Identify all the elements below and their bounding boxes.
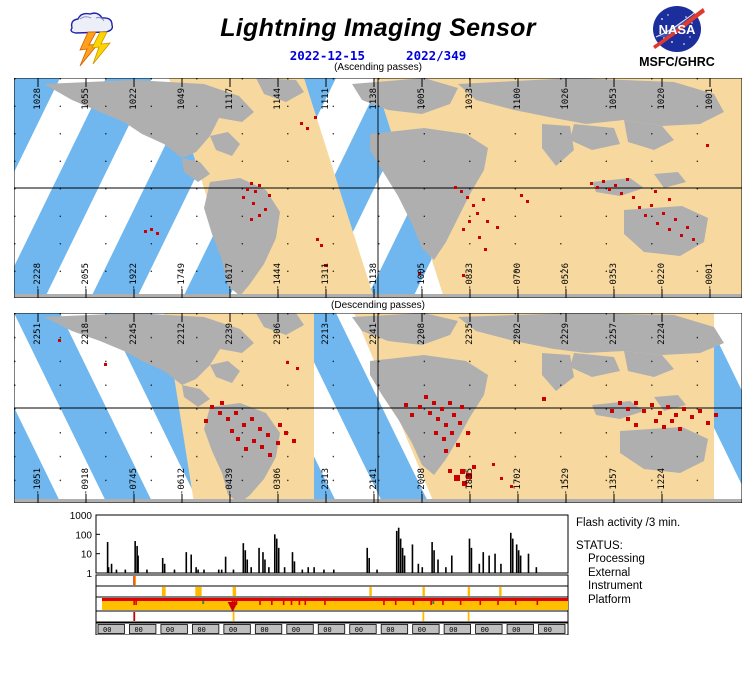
instrument-green-marker — [432, 601, 434, 604]
flash-bar — [307, 567, 309, 573]
flash-bar — [292, 552, 294, 573]
flash-bar — [398, 528, 400, 573]
external-spike — [468, 587, 470, 596]
external-spike — [163, 587, 165, 596]
flash-bar — [116, 570, 118, 573]
flash-bar — [244, 550, 246, 573]
flash-bar — [494, 554, 496, 573]
ascending-orbit-label: 1028 — [34, 88, 43, 110]
page-header: Lightning Imaging Sensor 2022-12-15 2022… — [0, 0, 756, 78]
platform-tick — [133, 612, 135, 621]
timeline-cell-label: 00 — [418, 626, 426, 634]
ascending-orbit-label: 1001 — [706, 88, 715, 110]
chart-legend: Flash activity /3 min. STATUS: Processin… — [576, 517, 680, 607]
y-tick-label: 1 — [86, 569, 92, 580]
instrument-marker — [460, 601, 462, 605]
ascending-orbit-label: 1049 — [178, 88, 187, 110]
flash-bar — [412, 544, 414, 573]
flash-bar — [218, 570, 220, 573]
timeline-cell-label: 00 — [166, 626, 174, 634]
flash-bar — [518, 550, 520, 573]
flash-bar — [418, 564, 420, 573]
ascending-orbit-label: -2228 — [34, 263, 43, 290]
flash-bar — [278, 548, 280, 573]
flash-bar — [190, 555, 192, 573]
flash-bar — [125, 570, 127, 573]
ascending-orbit-label: 1144 — [274, 88, 283, 110]
flash-bar — [479, 564, 481, 573]
flash-bar — [368, 558, 370, 573]
ascending-orbit-label: 1022 — [130, 88, 139, 110]
flash-bar — [333, 570, 335, 573]
status-row-platform — [96, 611, 568, 622]
ascending-orbit-label: 1055 — [82, 88, 91, 110]
instrument-marker — [430, 601, 432, 605]
ascending-orbit-label: 1138 — [370, 88, 379, 110]
nasa-meatball-logo: NASA — [646, 4, 708, 54]
instrument-marker — [133, 601, 135, 605]
instrument-marker — [291, 601, 293, 605]
ascending-orbit-label: -2055 — [82, 263, 91, 290]
flash-bar — [433, 550, 435, 573]
instrument-marker — [395, 601, 397, 605]
date-iso: 2022-12-15 — [290, 48, 365, 63]
flash-bar — [516, 544, 518, 573]
flash-bar — [400, 539, 402, 573]
status-item-platform: Platform — [576, 594, 680, 608]
ascending-orbit-label: 1100 — [514, 88, 523, 110]
ascending-orbit-label: -1005 — [418, 263, 427, 290]
flash-bar — [323, 570, 325, 573]
processing-tick — [134, 576, 136, 585]
ascending-orbit-label: 1117 — [226, 88, 235, 110]
flash-plot-frame — [96, 515, 568, 573]
ascending-orbit-label: -0526 — [562, 263, 571, 290]
flash-bar — [185, 552, 187, 573]
external-spike — [234, 587, 236, 596]
date-doy: 2022/349 — [406, 48, 466, 63]
flash-bar — [243, 543, 245, 573]
descending-orbit-label: -0918 — [82, 468, 91, 495]
instrument-red-line — [102, 598, 568, 601]
flash-bar — [197, 570, 199, 573]
descending-orbit-label: -1835 — [466, 468, 475, 495]
instrument-marker — [515, 601, 517, 605]
platform-tick — [468, 612, 470, 621]
ascending-orbit-label: -1922 — [130, 263, 139, 290]
descending-subtitle: (Descending passes) — [0, 300, 756, 311]
descending-orbit-label: 2241 — [370, 323, 379, 345]
flash-bar — [482, 552, 484, 573]
flash-bar — [134, 541, 136, 573]
flash-bar — [437, 559, 439, 573]
timeline-cell-label: 00 — [481, 626, 489, 634]
ascending-orbit-label: -0001 — [706, 263, 715, 290]
descending-passes-map: 2251221822452212223923062213224122082235… — [14, 313, 742, 503]
nasa-wordmark-text: NASA — [659, 22, 696, 37]
flash-bar — [445, 567, 447, 573]
flash-bar — [203, 570, 205, 573]
flash-bar — [528, 554, 530, 573]
ascending-orbit-label: 1033 — [466, 88, 475, 110]
flash-bar — [284, 567, 286, 573]
timeline-cell-label: 00 — [512, 626, 520, 634]
ascending-orbit-label: -0700 — [514, 263, 523, 290]
instrument-marker — [304, 601, 306, 605]
flash-bar — [488, 556, 490, 573]
external-spike — [199, 587, 201, 596]
timeline-cell-label: 00 — [229, 626, 237, 634]
timeline-cell-label: 00 — [292, 626, 300, 634]
flash-bar — [262, 552, 264, 573]
descending-orbit-label: 2245 — [130, 323, 139, 345]
flash-bar — [233, 570, 235, 573]
descending-orbit-label: 2212 — [178, 323, 187, 345]
ascending-orbit-label: -1311 — [322, 263, 331, 290]
descending-orbit-label: 2257 — [610, 323, 619, 345]
flash-bar — [404, 556, 406, 573]
ascending-orbit-label: -0220 — [658, 263, 667, 290]
status-item-external: External — [576, 567, 680, 581]
descending-orbit-label: 2224 — [658, 323, 667, 345]
descending-orbit-label: 2251 — [34, 323, 43, 345]
instrument-marker — [324, 601, 326, 605]
external-spike — [499, 587, 501, 596]
flash-bar — [431, 542, 433, 573]
flash-bar — [510, 533, 512, 573]
flash-bar — [536, 567, 538, 573]
descending-orbit-label: -2313 — [322, 468, 331, 495]
instrument-marker — [299, 601, 301, 605]
flash-bar — [451, 556, 453, 573]
flash-bar — [221, 570, 223, 573]
ascending-orbit-label: 1111 — [322, 88, 331, 110]
status-row-processing — [96, 575, 568, 586]
flash-bar — [250, 567, 252, 573]
descending-orbit-label: 2208 — [418, 323, 427, 345]
descending-orbit-label: -0612 — [178, 468, 187, 495]
descending-orbit-label: -0439 — [226, 468, 235, 495]
external-spike — [369, 587, 371, 596]
timeline-cell-label: 00 — [260, 626, 268, 634]
instrument-marker — [135, 601, 137, 605]
flash-bar — [500, 564, 502, 573]
platform-tick — [233, 612, 235, 621]
y-tick-label: 10 — [81, 550, 93, 561]
descending-orbit-label: -1529 — [562, 468, 571, 495]
timeline-cell-label: 00 — [544, 626, 552, 634]
platform-tick — [422, 612, 424, 621]
timeline-cell-label: 00 — [197, 626, 205, 634]
ascending-orbit-label: -1617 — [226, 263, 235, 290]
flash-bar — [195, 567, 197, 573]
descending-orbit-label: -1051 — [34, 468, 43, 495]
instrument-marker — [537, 601, 539, 605]
flash-bar — [396, 531, 398, 573]
flash-bar — [174, 570, 176, 573]
timeline-cell-label: 00 — [134, 626, 142, 634]
timeline-cell-label: 00 — [323, 626, 331, 634]
timeline-cell-label: 00 — [355, 626, 363, 634]
descending-orbit-label: 2229 — [562, 323, 571, 345]
flash-bar — [302, 570, 304, 573]
instrument-marker — [383, 601, 385, 605]
instrument-marker — [271, 601, 273, 605]
flash-bar — [520, 556, 522, 573]
ascending-orbit-label: -1444 — [274, 263, 283, 290]
descending-orbit-label: 2239 — [226, 323, 235, 345]
flash-bar — [268, 567, 270, 573]
external-spike — [422, 587, 424, 596]
instrument-marker — [497, 601, 499, 605]
instrument-marker — [480, 601, 482, 605]
ascending-passes-map: 1028105510221049111711441111113810051033… — [14, 78, 742, 298]
timeline-cell-label: 00 — [449, 626, 457, 634]
descending-orbit-label: -1702 — [514, 468, 523, 495]
timeline-cell-label: 00 — [103, 626, 111, 634]
descending-orbit-label: 2218 — [82, 323, 91, 345]
flash-activity-label: Flash activity /3 min. — [576, 517, 680, 531]
flash-bar — [376, 570, 378, 573]
flash-bar — [137, 556, 139, 573]
lis-daily-summary-page: Lightning Imaging Sensor 2022-12-15 2022… — [0, 0, 756, 680]
y-tick-label: 100 — [75, 530, 92, 541]
flash-bar — [264, 559, 266, 573]
ascending-orbit-label: -1749 — [178, 263, 187, 290]
ascending-orbit-label: 1005 — [418, 88, 427, 110]
flash-bar — [246, 559, 248, 573]
flash-bar — [471, 548, 473, 573]
flash-activity-chart: 1000100101000000000000000000000000000000… — [0, 511, 756, 635]
instrument-marker — [413, 601, 415, 605]
descending-orbit-label: 2213 — [322, 323, 331, 345]
status-row-external — [96, 586, 568, 597]
instrument-green-marker — [202, 601, 204, 604]
status-item-instrument: Instrument — [576, 580, 680, 594]
y-tick-label: 1000 — [70, 511, 93, 522]
flash-bar — [146, 570, 148, 573]
flash-bar — [258, 548, 260, 573]
flash-bar — [225, 557, 227, 573]
ascending-orbit-label: 1020 — [658, 88, 667, 110]
flash-bar — [313, 567, 315, 573]
flash-bar — [421, 567, 423, 573]
ascending-orbit-label: 1053 — [610, 88, 619, 110]
flash-bar — [294, 561, 296, 573]
flash-bar — [274, 534, 276, 573]
agency-label: MSFC/GHRC — [622, 55, 732, 69]
ascending-orbit-label: -0833 — [466, 263, 475, 290]
descending-orbit-label: -0306 — [274, 468, 283, 495]
timeline-cell-label: 00 — [386, 626, 394, 634]
descending-orbit-label: 2202 — [514, 323, 523, 345]
ascending-orbit-label: 1026 — [562, 88, 571, 110]
status-item-processing: Processing — [576, 553, 680, 567]
flash-bar — [164, 564, 166, 573]
descending-orbit-label: 2306 — [274, 323, 283, 345]
instrument-marker — [259, 601, 261, 605]
ascending-orbit-label: -0353 — [610, 263, 619, 290]
descending-orbit-label: -1224 — [658, 468, 667, 495]
descending-orbit-label: -0745 — [130, 468, 139, 495]
instrument-marker — [442, 601, 444, 605]
flash-bar — [108, 567, 110, 573]
descending-orbit-label: -1357 — [610, 468, 619, 495]
flash-bar — [402, 548, 404, 573]
ascending-orbit-label: -1138 — [370, 263, 379, 290]
descending-orbit-label: -2141 — [370, 468, 379, 495]
status-header: STATUS: — [576, 540, 680, 554]
flash-bar — [162, 558, 164, 573]
flash-bar — [366, 548, 368, 573]
instrument-marker — [283, 601, 285, 605]
nasa-branding: NASA MSFC/GHRC — [622, 4, 732, 69]
flash-bar — [111, 564, 113, 573]
flash-bar — [469, 539, 471, 573]
flash-bar — [512, 539, 514, 573]
descending-orbit-label: 2235 — [466, 323, 475, 345]
descending-orbit-label: -2008 — [418, 468, 427, 495]
flash-bar — [276, 539, 278, 573]
